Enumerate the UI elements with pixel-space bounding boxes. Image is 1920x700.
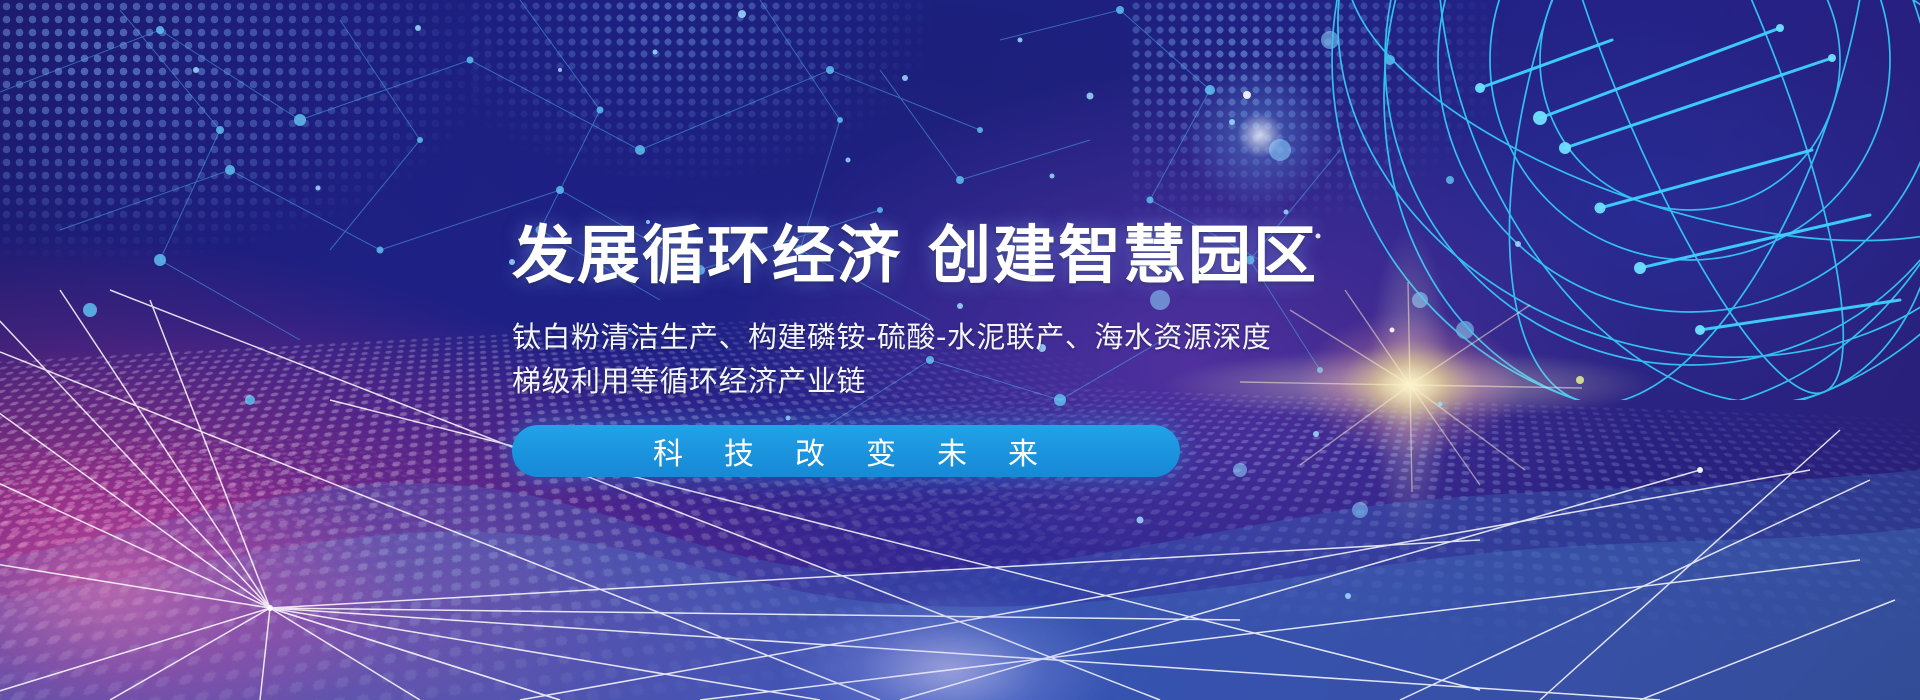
page-title: 发展循环经济创建智慧园区: [512, 223, 1318, 289]
headline-part-1: 发展循环经济: [512, 219, 902, 292]
headline-part-2: 创建智慧园区: [928, 219, 1318, 292]
subtitle-line-1: 钛白粉清洁生产、构建磷铵-硫酸-水泥联产、海水资源深度: [512, 315, 1271, 359]
cta-char-6: 来: [1008, 429, 1039, 473]
cta-char-3: 改: [795, 429, 826, 473]
cta-char-5: 未: [937, 429, 968, 473]
subtitle-line-2: 梯级利用等循环经济产业链: [512, 359, 866, 403]
cta-char-4: 变: [866, 429, 897, 473]
cta-char-2: 技: [724, 429, 755, 473]
banner-content: 发展循环经济创建智慧园区 钛白粉清洁生产、构建磷铵-硫酸-水泥联产、海水资源深度…: [0, 0, 1920, 700]
cta-char-1: 科: [653, 429, 684, 473]
cta-slogan-button[interactable]: 科 技 改 变 未 来: [512, 425, 1180, 477]
hero-banner: 发展循环经济创建智慧园区 钛白粉清洁生产、构建磷铵-硫酸-水泥联产、海水资源深度…: [0, 0, 1920, 700]
